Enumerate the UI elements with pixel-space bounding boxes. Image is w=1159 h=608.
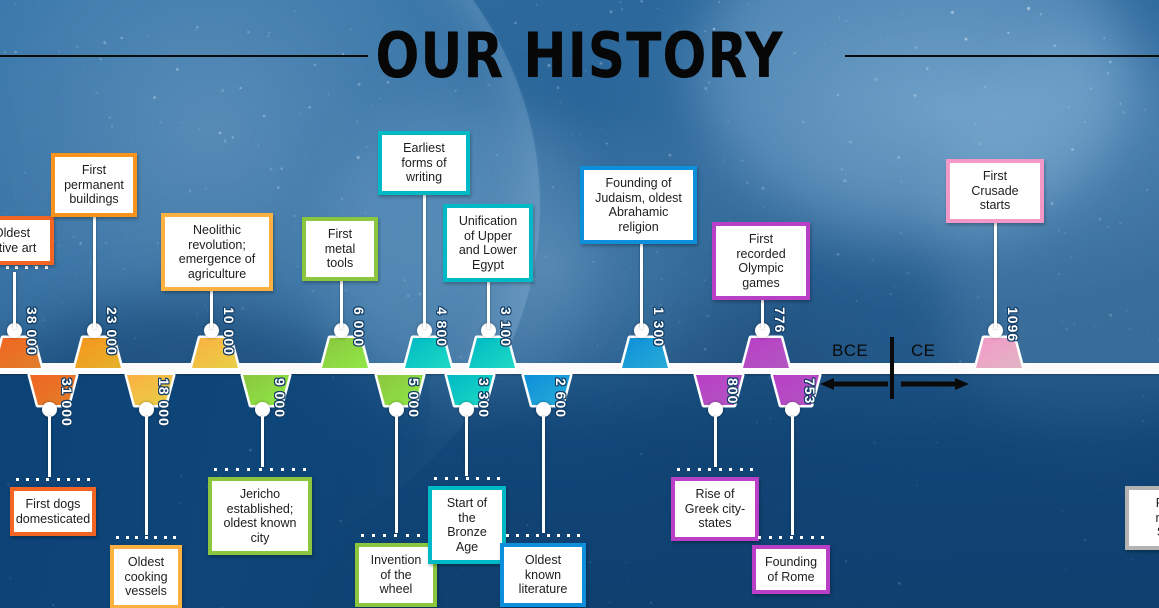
timeline-connector-line [994, 211, 997, 329]
callout-dot-row [0, 266, 48, 270]
timeline-callout[interactable]: Founding of Judaism, oldest Abrahamic re… [580, 166, 697, 244]
timeline-callout[interactable]: First dogs domesticated [10, 487, 96, 536]
timeline-callout[interactable]: Rise of Greek city-states [671, 477, 759, 541]
timeline-connector-line [542, 416, 545, 533]
timeline-callout-label: Oldest known literature [512, 553, 574, 597]
era-label-bce: BCE [832, 341, 868, 361]
callout-dot-row [214, 468, 306, 472]
timeline-callout[interactable]: Neolithic revolution; emergence of agric… [161, 213, 273, 291]
timeline-callout-label: Fi re S [1155, 496, 1159, 540]
timeline-callout[interactable]: Unification of Upper and Lower Egypt [443, 204, 533, 282]
timeline-date-label: 3 100 [498, 307, 514, 347]
timeline-callout[interactable]: First recorded Olympic games [712, 222, 810, 300]
callout-dot-row [16, 478, 90, 482]
timeline-date-label: 1096 [1005, 307, 1021, 342]
timeline-callout[interactable]: First metal tools [302, 217, 378, 281]
timeline-connector-dot [389, 402, 404, 417]
callout-dot-row [361, 534, 431, 538]
timeline-date-label: 3 300 [476, 378, 492, 418]
timeline-callout-label: First Crusade starts [958, 169, 1032, 213]
timeline-connector-line [395, 416, 398, 533]
timeline-callout[interactable]: Founding of Rome [752, 545, 830, 594]
timeline-callout-label: Oldest cooking vessels [122, 555, 170, 599]
timeline-date-label: 38 000 [24, 307, 40, 356]
timeline-callout-label: Neolithic revolution; emergence of agric… [173, 223, 261, 281]
timeline-callout-label: Jericho established; oldest known city [220, 487, 300, 545]
timeline-callout-label: Unification of Upper and Lower Egypt [455, 214, 521, 272]
timeline-callout[interactable]: Jericho established; oldest known city [208, 477, 312, 555]
timeline-callout-label: Start of the Bronze Age [440, 496, 494, 554]
timeline-date-label: 2 600 [553, 378, 569, 418]
timeline-callout-label: Oldest rative art [0, 226, 36, 255]
timeline-callout-label: First recorded Olympic games [724, 232, 798, 290]
timeline-callout-label: Invention of the wheel [367, 553, 425, 597]
era-divider [890, 337, 894, 399]
timeline-date-label: 1 300 [651, 307, 667, 347]
timeline-callout[interactable]: Oldest known literature [500, 543, 586, 607]
timeline-connector-dot [785, 402, 800, 417]
timeline-callout-label: First permanent buildings [63, 163, 125, 207]
timeline-callout[interactable]: Invention of the wheel [355, 543, 437, 607]
timeline-connector-line [48, 416, 51, 477]
timeline-connector-line [423, 183, 426, 329]
callout-dot-row [116, 536, 176, 540]
page-title: OUR HISTORY [41, 22, 1119, 90]
timeline-connector-line [261, 416, 264, 467]
era-label-ce: CE [911, 341, 935, 361]
timeline-date-label: 4 800 [434, 307, 450, 347]
timeline-connector-dot [139, 402, 154, 417]
timeline-date-label: 800 [725, 378, 741, 404]
header: OUR HISTORY [0, 0, 1159, 112]
timeline-callout-label: First metal tools [314, 227, 366, 271]
timeline-connector-dot [255, 402, 270, 417]
timeline-connector-line [714, 416, 717, 467]
timeline-callout-label: Founding of Judaism, oldest Abrahamic re… [592, 176, 685, 234]
timeline-connector-line [465, 416, 468, 476]
timeline-callout-label: First dogs domesticated [16, 497, 90, 526]
timeline-connector-dot [42, 402, 57, 417]
timeline-date-label: 776 [772, 307, 788, 333]
timeline-connector-line [13, 272, 16, 329]
timeline-callout[interactable]: First Crusade starts [946, 159, 1044, 223]
timeline-date-label: 18 000 [156, 378, 172, 427]
timeline-callout[interactable]: Fi re S [1125, 486, 1159, 550]
timeline-callout-label: Earliest forms of writing [390, 141, 458, 185]
timeline-callout-label: Founding of Rome [764, 555, 818, 584]
timeline-date-label: 23 000 [104, 307, 120, 356]
timeline-callout[interactable]: Oldest cooking vessels [110, 545, 182, 608]
timeline-connector-dot [536, 402, 551, 417]
timeline-callout[interactable]: First permanent buildings [51, 153, 137, 217]
timeline-callout[interactable]: Earliest forms of writing [378, 131, 470, 195]
timeline-marker-trapezoid[interactable] [739, 335, 793, 371]
timeline-connector-dot [708, 402, 723, 417]
timeline-date-label: 5 000 [406, 378, 422, 418]
timeline-connector-line [145, 416, 148, 535]
callout-dot-row [677, 468, 753, 472]
timeline-date-label: 9 000 [272, 378, 288, 418]
callout-dot-row [758, 536, 824, 540]
timeline-date-label: 31 000 [59, 378, 75, 427]
timeline-connector-line [791, 416, 794, 535]
timeline-date-label: 753 [802, 378, 818, 404]
callout-dot-row [434, 477, 500, 481]
arrow-bce [820, 378, 888, 390]
timeline-date-label: 6 000 [351, 307, 367, 347]
timeline-callout[interactable]: Start of the Bronze Age [428, 486, 506, 564]
timeline-callout[interactable]: Oldest rative art [0, 216, 54, 265]
timeline-callout-label: Rise of Greek city-states [683, 487, 747, 531]
timeline-connector-line [93, 215, 96, 329]
arrow-ce [901, 378, 969, 390]
timeline-date-label: 10 000 [221, 307, 237, 356]
timeline-connector-dot [459, 402, 474, 417]
callout-dot-row [506, 534, 580, 538]
